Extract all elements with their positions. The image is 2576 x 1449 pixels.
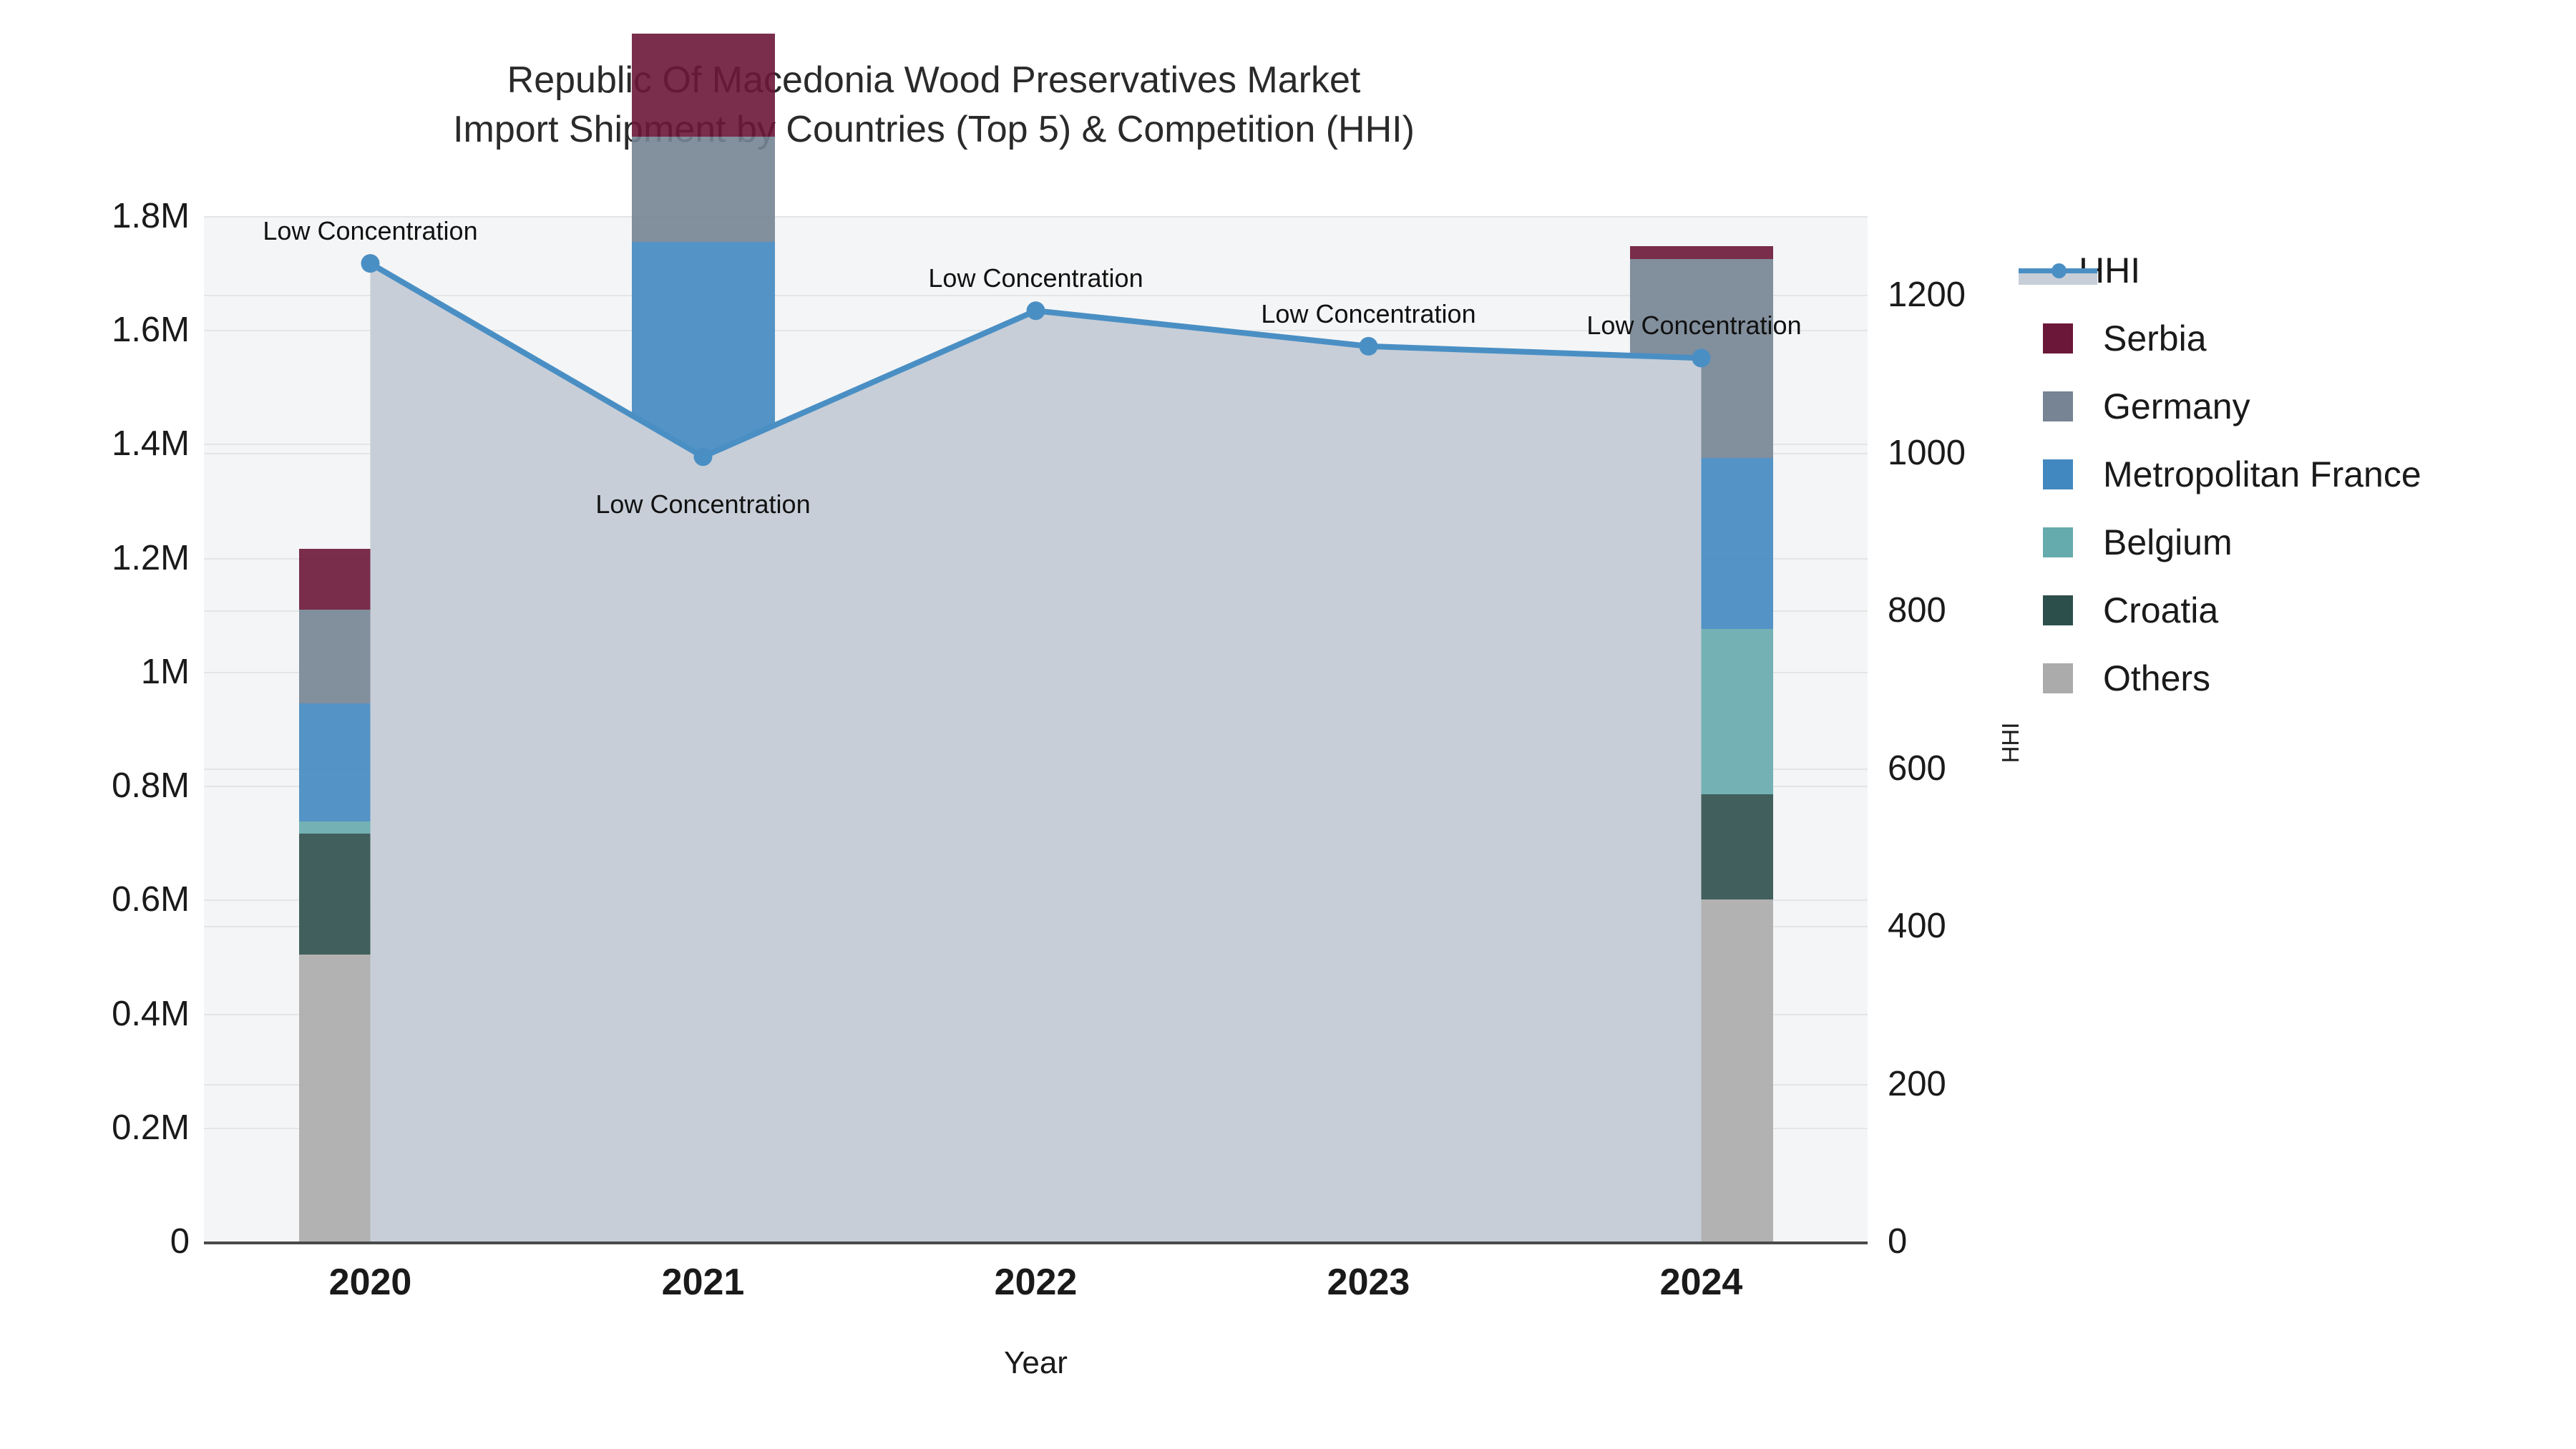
legend-item[interactable]: Serbia	[2043, 304, 2572, 372]
chart-canvas: Republic Of Macedonia Wood Preservatives…	[0, 0, 2576, 1449]
legend-item[interactable]: HHI	[2043, 236, 2572, 304]
legend-item-label: Metropolitan France	[2103, 454, 2421, 495]
legend-item[interactable]: Others	[2043, 644, 2572, 712]
legend-line-dot	[2051, 263, 2067, 278]
hhi-annotation-label: Low Concentration	[263, 216, 477, 246]
hhi-annotation-label: Low Concentration	[1586, 311, 1801, 341]
legend-item-label: Serbia	[2103, 318, 2207, 359]
legend-item[interactable]: Metropolitan France	[2043, 440, 2572, 508]
legend-item[interactable]: Belgium	[2043, 508, 2572, 576]
legend-item[interactable]: Croatia	[2043, 576, 2572, 644]
hhi-annotation-label: Low Concentration	[1261, 299, 1475, 329]
hhi-annotation-label: Low Concentration	[595, 489, 810, 519]
hhi-area	[371, 263, 1702, 1241]
legend-item-label: Belgium	[2103, 522, 2233, 563]
legend-line-marker	[2019, 255, 2097, 286]
legend: HHISerbiaGermanyMetropolitan FranceBelgi…	[2043, 236, 2572, 712]
legend-color-swatch	[2043, 323, 2073, 353]
legend-color-swatch	[2043, 527, 2073, 557]
legend-color-swatch	[2043, 391, 2073, 421]
legend-item-label: Croatia	[2103, 590, 2218, 631]
legend-item-label: Germany	[2103, 386, 2250, 427]
legend-color-swatch	[2043, 663, 2073, 693]
legend-color-swatch	[2043, 459, 2073, 489]
legend-item-label: Others	[2103, 658, 2210, 699]
legend-color-swatch	[2043, 595, 2073, 625]
hhi-annotation-label: Low Concentration	[928, 263, 1143, 293]
legend-item[interactable]: Germany	[2043, 372, 2572, 440]
